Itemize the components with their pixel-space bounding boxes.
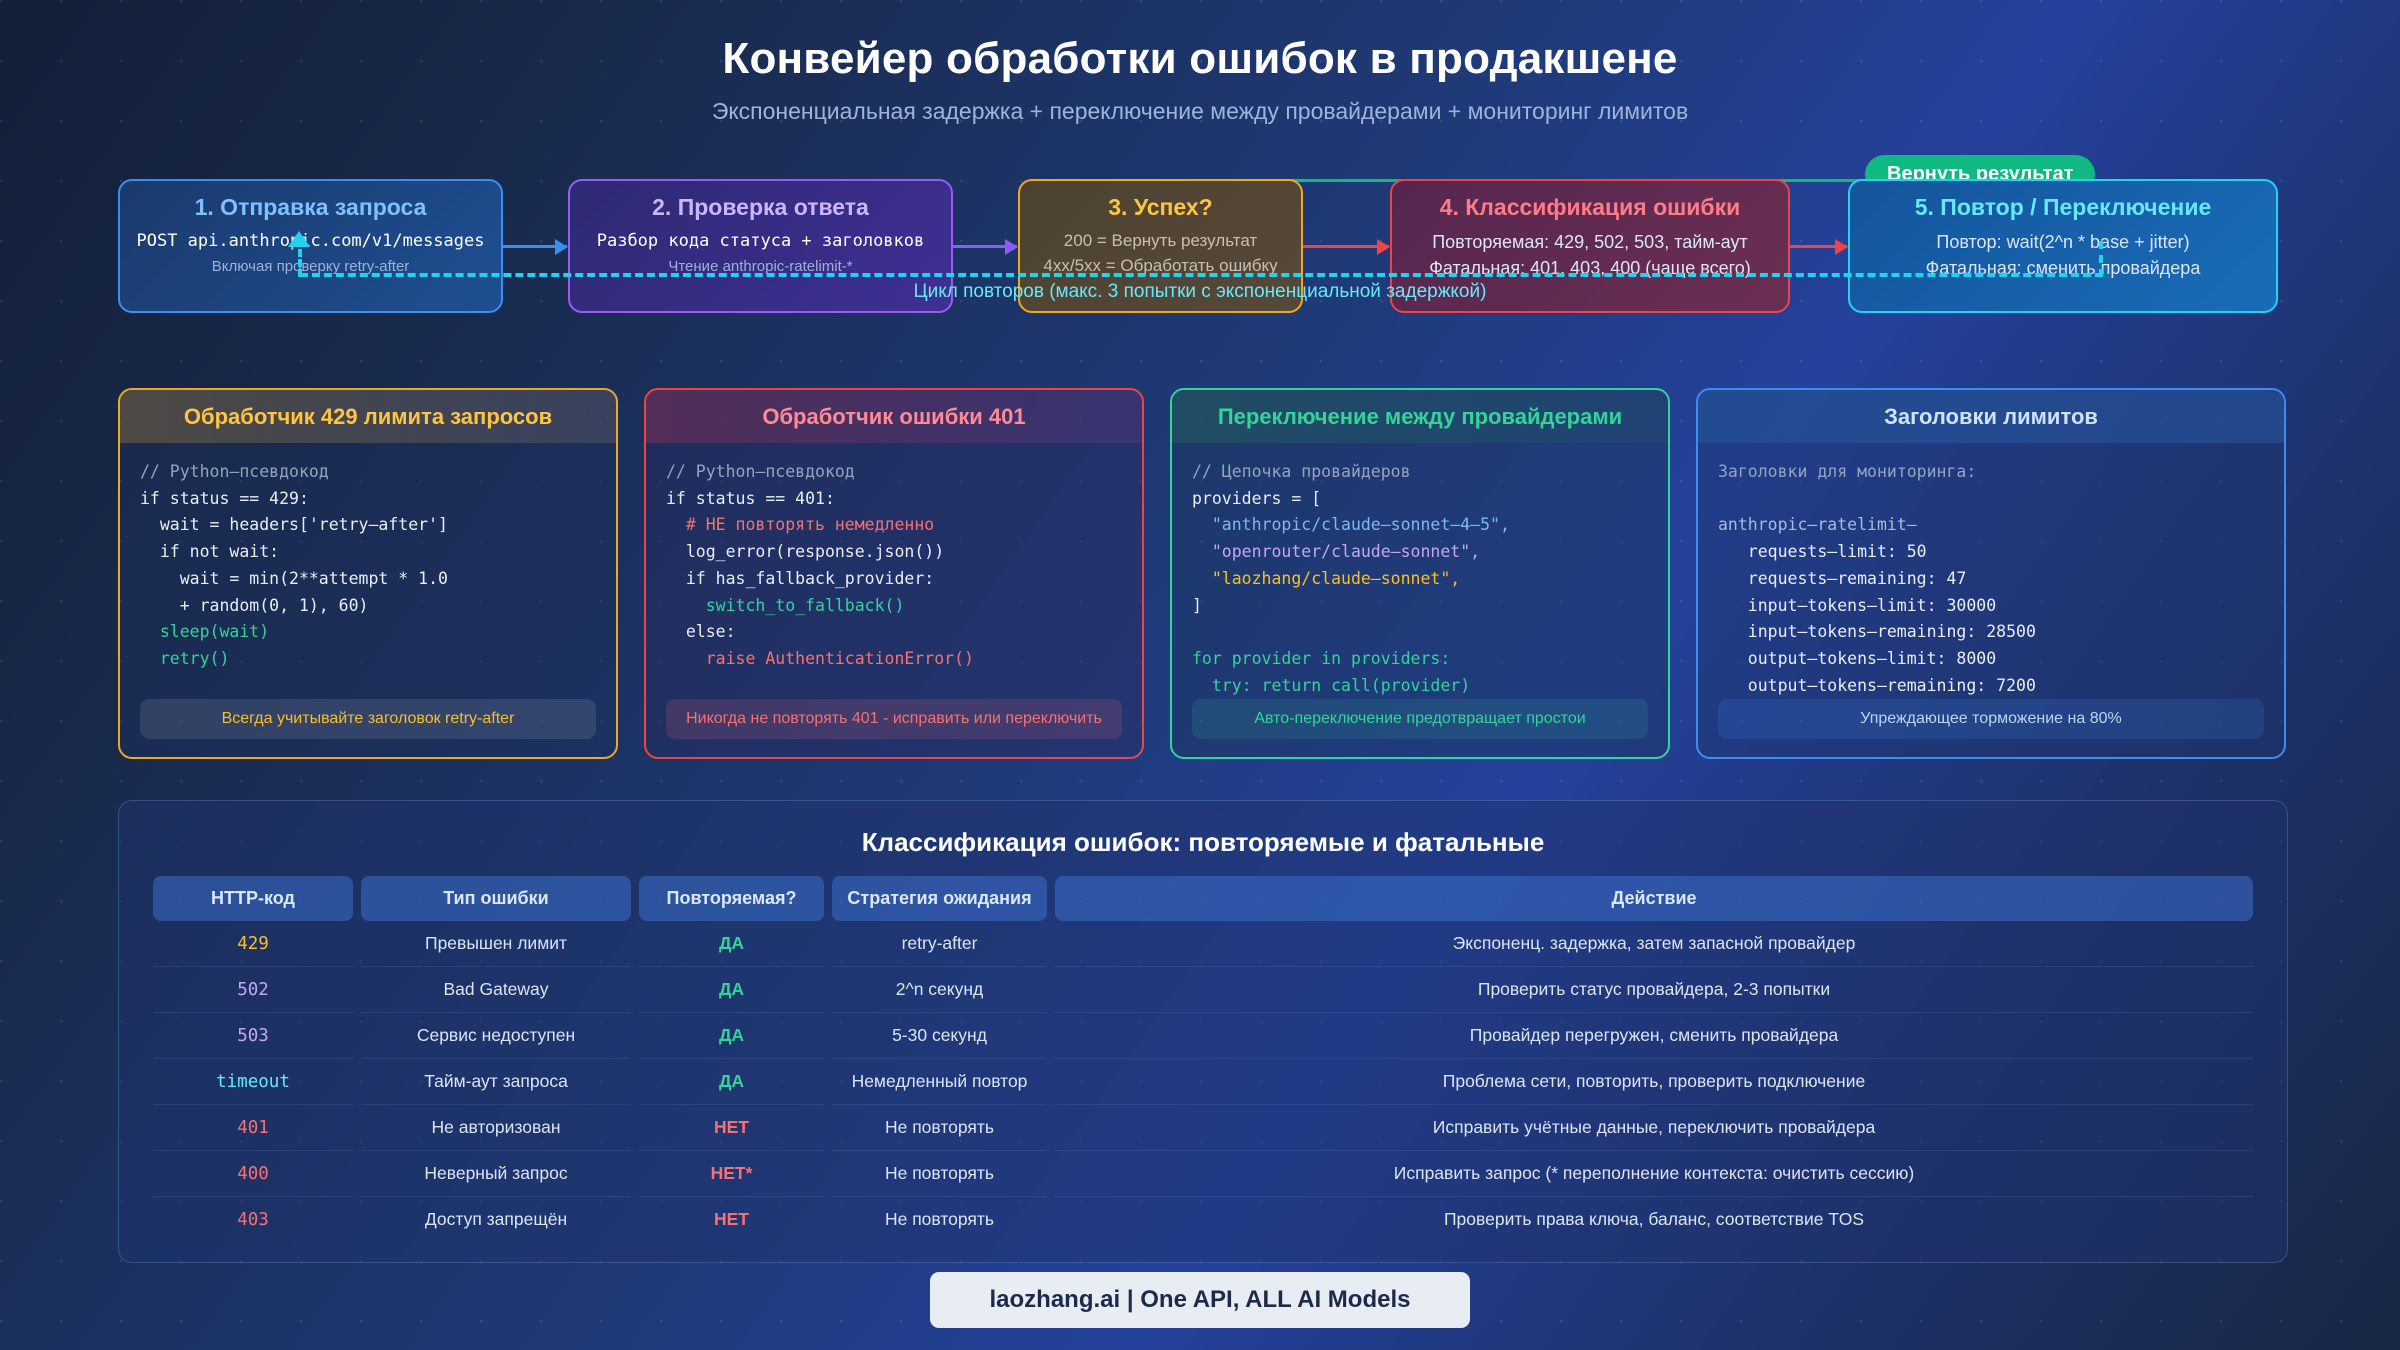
code-card-provider-switch: Переключение между провайдерами // Цепоч… (1170, 388, 1670, 759)
code-line: "anthropic/claude—sonnet—4—5", (1192, 512, 1648, 539)
flow-step-4-line1: Повторяемая: 429, 502, 503, тайм-аут (1404, 229, 1776, 255)
cell-action: Провайдер перегружен, сменить провайдера (1055, 1013, 2253, 1059)
retry-loop-horizontal (300, 273, 2103, 277)
code-line: output—tokens—remaining: 7200 (1718, 673, 2264, 700)
retryable-badge: НЕТ (714, 1209, 749, 1229)
retryable-badge: ДА (719, 1025, 744, 1045)
cell-action: Проблема сети, повторить, проверить подк… (1055, 1059, 2253, 1105)
flow-diagram: Вернуть результат 1. Отправка запроса PO… (0, 153, 2400, 343)
code-line: log_error(response.json()) (666, 539, 1122, 566)
table-column-header: Действие (1055, 876, 2253, 921)
cell-wait-strategy: 5-30 секунд (832, 1013, 1047, 1059)
flow-step-2-heading: 2. Проверка ответа (582, 194, 939, 221)
code-line: switch_to_fallback() (666, 593, 1122, 620)
cell-error-type: Bad Gateway (361, 967, 631, 1013)
code-line: requests—limit: 50 (1718, 539, 2264, 566)
cell-http-code: 400 (153, 1151, 353, 1197)
flow-step-3-heading: 3. Успех? (1032, 194, 1289, 221)
code-card-401: Обработчик ошибки 401 // Python—псевдоко… (644, 388, 1144, 759)
code-card-provider-switch-body: // Цепочка провайдеровproviders = [ "ant… (1172, 443, 1668, 757)
table-title: Классификация ошибок: повторяемые и фата… (145, 827, 2261, 858)
retry-loop-left-segment (298, 249, 302, 277)
table-row: 502Bad GatewayДА2^n секундПроверить стат… (153, 967, 2253, 1013)
code-card-429-body: // Python—псевдокодif status == 429: wai… (120, 443, 616, 757)
code-line: wait = min(2**attempt * 1.0 (140, 566, 596, 593)
code-line: if not wait: (140, 539, 596, 566)
table-row: timeoutТайм-аут запросаДАНемедленный пов… (153, 1059, 2253, 1105)
code-card-401-body: // Python—псевдокодif status == 401: # Н… (646, 443, 1142, 757)
code-line: for provider in providers: (1192, 646, 1648, 673)
table-row: 503Сервис недоступенДА5-30 секундПровайд… (153, 1013, 2253, 1059)
code-line (1192, 619, 1648, 646)
cell-http-code: timeout (153, 1059, 353, 1105)
cell-action: Экспоненц. задержка, затем запасной пров… (1055, 921, 2253, 967)
code-card-ratelimit-headers-heading: Заголовки лимитов (1698, 390, 2284, 443)
code-line: anthropic—ratelimit— (1718, 512, 2264, 539)
flow-step-3-line1: 200 = Вернуть результат (1032, 229, 1289, 254)
table-row: 429Превышен лимитДАretry-afterЭкспоненц.… (153, 921, 2253, 967)
code-line: retry() (140, 646, 596, 673)
cell-error-type: Доступ запрещён (361, 1197, 631, 1242)
code-card-429-heading: Обработчик 429 лимита запросов (120, 390, 616, 443)
code-card-401-heading: Обработчик ошибки 401 (646, 390, 1142, 443)
code-line: else: (666, 619, 1122, 646)
flow-step-2-line1: Разбор кода статуса + заголовков (582, 229, 939, 254)
cell-http-code: 503 (153, 1013, 353, 1059)
cell-retryable: ДА (639, 921, 824, 967)
flow-arrow-3-4 (1303, 245, 1389, 248)
table-row: 403Доступ запрещёнНЕТНе повторятьПровери… (153, 1197, 2253, 1242)
code-line: sleep(wait) (140, 619, 596, 646)
cell-retryable: ДА (639, 1013, 824, 1059)
code-line: "laozhang/claude—sonnet", (1192, 566, 1648, 593)
table-column-header: HTTP-код (153, 876, 353, 921)
footer: laozhang.ai | One API, ALL AI Models (0, 1272, 2400, 1328)
cell-error-type: Не авторизован (361, 1105, 631, 1151)
code-line: + random(0, 1), 60) (140, 593, 596, 620)
retryable-badge: ДА (719, 979, 744, 999)
cell-retryable: ДА (639, 967, 824, 1013)
retry-loop-arrowhead-icon (288, 231, 310, 247)
code-line: "openrouter/claude—sonnet", (1192, 539, 1648, 566)
flow-step-4-heading: 4. Классификация ошибки (1404, 194, 1776, 221)
flow-step-5-line2: Фатальная: сменить провайдера (1862, 255, 2264, 281)
code-card-provider-switch-note: Авто-переключение предотвращает простои (1192, 699, 1648, 739)
flow-step-4-line2: Фатальная: 401, 403, 400 (чаще всего) (1404, 255, 1776, 281)
cell-http-code: 401 (153, 1105, 353, 1151)
page-title: Конвейер обработки ошибок в продакшене (0, 34, 2400, 84)
cell-wait-strategy: Не повторять (832, 1197, 1047, 1242)
code-line: // Цепочка провайдеров (1192, 459, 1648, 486)
cell-error-type: Тайм-аут запроса (361, 1059, 631, 1105)
code-line: providers = [ (1192, 486, 1648, 513)
error-classification-panel: Классификация ошибок: повторяемые и фата… (118, 800, 2288, 1263)
code-line: if has_fallback_provider: (666, 566, 1122, 593)
table-column-header: Тип ошибки (361, 876, 631, 921)
cell-action: Проверить статус провайдера, 2-3 попытки (1055, 967, 2253, 1013)
page-header: Конвейер обработки ошибок в продакшене Э… (0, 0, 2400, 125)
cell-http-code: 429 (153, 921, 353, 967)
page-subtitle: Экспоненциальная задержка + переключение… (0, 98, 2400, 125)
code-card-row: Обработчик 429 лимита запросов // Python… (118, 388, 2288, 759)
table-header-row: HTTP-кодТип ошибкиПовторяемая?Стратегия … (153, 876, 2253, 921)
flow-step-5-line1: Повтор: wait(2^n * base + jitter) (1862, 229, 2264, 255)
cell-http-code: 403 (153, 1197, 353, 1242)
retryable-badge: НЕТ* (711, 1163, 753, 1183)
cell-action: Исправить запрос (* переполнение контекс… (1055, 1151, 2253, 1197)
code-line: ] (1192, 593, 1648, 620)
table-column-header: Стратегия ожидания (832, 876, 1047, 921)
brand-footer-label: laozhang.ai | One API, ALL AI Models (930, 1272, 1471, 1328)
code-line: # НЕ повторять немедленно (666, 512, 1122, 539)
code-line: input—tokens—remaining: 28500 (1718, 619, 2264, 646)
code-card-ratelimit-headers: Заголовки лимитов Заголовки для монитори… (1696, 388, 2286, 759)
cell-wait-strategy: Не повторять (832, 1151, 1047, 1197)
code-line (1718, 486, 2264, 513)
code-card-429: Обработчик 429 лимита запросов // Python… (118, 388, 618, 759)
code-line: raise AuthenticationError() (666, 646, 1122, 673)
flow-step-5-heading: 5. Повтор / Переключение (1862, 194, 2264, 221)
cell-wait-strategy: Немедленный повтор (832, 1059, 1047, 1105)
cell-http-code: 502 (153, 967, 353, 1013)
cell-error-type: Превышен лимит (361, 921, 631, 967)
code-card-provider-switch-heading: Переключение между провайдерами (1172, 390, 1668, 443)
cell-wait-strategy: 2^n секунд (832, 967, 1047, 1013)
code-line: // Python—псевдокод (666, 459, 1122, 486)
code-line: wait = headers['retry—after'] (140, 512, 596, 539)
code-block: Заголовки для мониторинга: anthropic—rat… (1718, 459, 2264, 699)
code-line: Заголовки для мониторинга: (1718, 459, 2264, 486)
code-card-ratelimit-headers-body: Заголовки для мониторинга: anthropic—rat… (1698, 443, 2284, 757)
cell-retryable: НЕТ (639, 1197, 824, 1242)
code-block: // Python—псевдокодif status == 401: # Н… (666, 459, 1122, 673)
flow-arrow-1-2 (503, 245, 567, 248)
retryable-badge: ДА (719, 1071, 744, 1091)
code-line: // Python—псевдокод (140, 459, 596, 486)
code-card-401-note: Никогда не повторять 401 - исправить или… (666, 699, 1122, 739)
code-line: if status == 401: (666, 486, 1122, 513)
retryable-badge: НЕТ (714, 1117, 749, 1137)
code-card-ratelimit-headers-note: Упреждающее торможение на 80% (1718, 699, 2264, 739)
cell-wait-strategy: Не повторять (832, 1105, 1047, 1151)
flow-step-1-line1: POST api.anthropic.com/v1/messages (132, 229, 489, 254)
retry-loop-label: Цикл повторов (макс. 3 попытки с экспоне… (0, 281, 2400, 303)
code-block: // Python—псевдокодif status == 429: wai… (140, 459, 596, 673)
infographic-canvas: Конвейер обработки ошибок в продакшене Э… (0, 0, 2400, 1350)
retry-loop-right-segment (2099, 241, 2103, 277)
cell-error-type: Сервис недоступен (361, 1013, 631, 1059)
code-line: try: return call(provider) (1192, 673, 1648, 700)
flow-arrow-4-5 (1790, 245, 1847, 248)
error-classification-table: HTTP-кодТип ошибкиПовторяемая?Стратегия … (145, 876, 2261, 1242)
cell-action: Проверить права ключа, баланс, соответст… (1055, 1197, 2253, 1242)
cell-retryable: ДА (639, 1059, 824, 1105)
flow-step-1-heading: 1. Отправка запроса (132, 194, 489, 221)
code-line: if status == 429: (140, 486, 596, 513)
flow-arrow-2-3 (953, 245, 1017, 248)
retryable-badge: ДА (719, 933, 744, 953)
table-row: 401Не авторизованНЕТНе повторятьИсправит… (153, 1105, 2253, 1151)
code-block: // Цепочка провайдеровproviders = [ "ant… (1192, 459, 1648, 699)
code-line: requests—remaining: 47 (1718, 566, 2264, 593)
code-line: output—tokens—limit: 8000 (1718, 646, 2264, 673)
cell-retryable: НЕТ (639, 1105, 824, 1151)
table-body: 429Превышен лимитДАretry-afterЭкспоненц.… (153, 921, 2253, 1242)
code-card-429-note: Всегда учитывайте заголовок retry-after (140, 699, 596, 739)
table-column-header: Повторяемая? (639, 876, 824, 921)
cell-retryable: НЕТ* (639, 1151, 824, 1197)
code-line: input—tokens—limit: 30000 (1718, 593, 2264, 620)
table-row: 400Неверный запросНЕТ*Не повторятьИсправ… (153, 1151, 2253, 1197)
cell-error-type: Неверный запрос (361, 1151, 631, 1197)
cell-wait-strategy: retry-after (832, 921, 1047, 967)
cell-action: Исправить учётные данные, переключить пр… (1055, 1105, 2253, 1151)
